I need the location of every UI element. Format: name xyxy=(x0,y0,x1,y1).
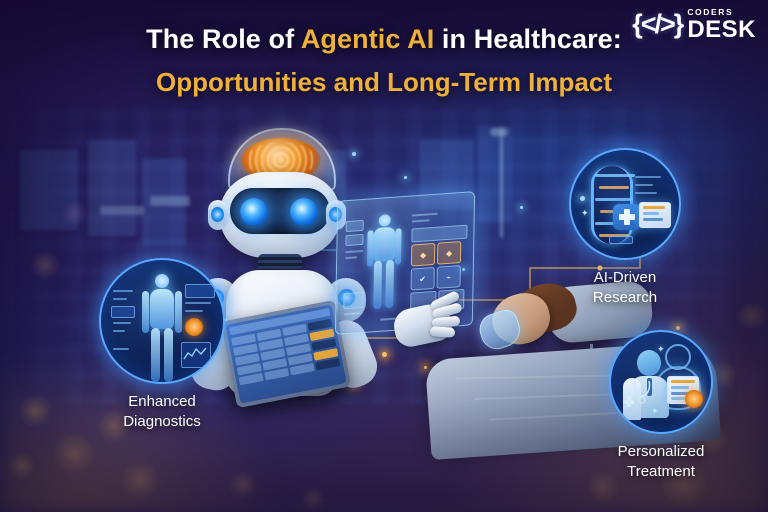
robot-eye-left xyxy=(240,198,268,226)
robot-ear-led-left xyxy=(211,207,224,222)
robot-eye-right xyxy=(290,198,318,226)
human-body-scan-icon xyxy=(99,258,225,384)
research-monitor-icon xyxy=(639,202,671,228)
feature-personalized-treatment[interactable]: ✦ ✦ Personalized Treatment xyxy=(568,330,754,481)
medical-cross-badge xyxy=(613,204,641,230)
stethoscope-icon xyxy=(631,380,653,406)
coders-desk-logo[interactable]: {</>} CODERS DESK xyxy=(632,8,756,42)
title-part-1: The Role of xyxy=(146,24,301,54)
cross-mark-2 xyxy=(623,400,634,404)
ai-chip-badge xyxy=(685,390,703,408)
hologram-panel-vitals-2 xyxy=(345,234,363,246)
hologram-check-icon[interactable]: ✔ xyxy=(411,267,435,291)
feature-enhanced-diagnostics[interactable]: Enhanced Diagnostics xyxy=(68,258,256,431)
code-brackets-icon: {</>} xyxy=(632,11,682,38)
chart-sparkline-icon xyxy=(183,346,207,362)
title-accent: Agentic AI xyxy=(301,24,435,54)
hologram-panel-vitals-3 xyxy=(343,292,363,309)
title-line-2: Opportunities and Long-Term Impact xyxy=(0,67,768,98)
doctor-with-tablet-icon: ✦ ✦ xyxy=(609,330,713,434)
hologram-panel-vitals-1 xyxy=(346,220,364,232)
title-part-2: in Healthcare: xyxy=(434,24,622,54)
feature-label: AI-Driven Research xyxy=(536,268,714,307)
logo-wordmark: CODERS DESK xyxy=(687,8,756,42)
hologram-panel-chart xyxy=(411,225,467,243)
feature-label: Enhanced Diagnostics xyxy=(68,392,256,431)
poster-canvas: ◆ ◆ ✔ ⌁ xyxy=(0,0,768,512)
dna-helix-icon: ✦ xyxy=(569,148,681,260)
feature-ai-driven-research[interactable]: ✦ AI-Driven Research xyxy=(536,148,714,307)
hologram-alert-icon-2[interactable]: ◆ xyxy=(437,241,461,265)
logo-main-word: DESK xyxy=(687,18,756,42)
feature-label: Personalized Treatment xyxy=(568,442,754,481)
hologram-alert-icon-1[interactable]: ◆ xyxy=(411,243,435,267)
